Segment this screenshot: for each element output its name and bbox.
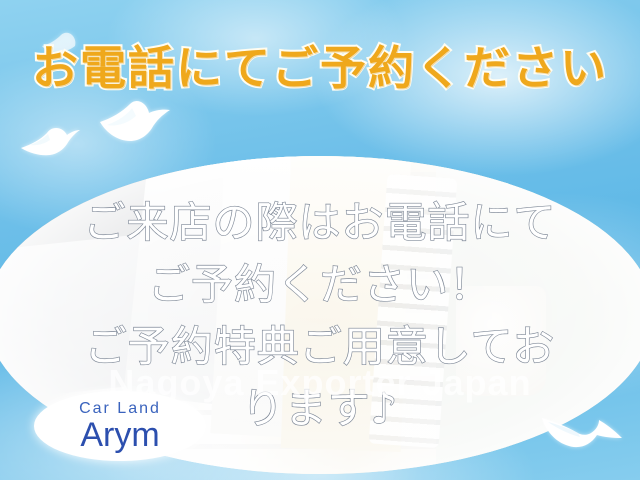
logo-brand-name: Arym: [80, 418, 159, 452]
body-line-1: ご来店の際はお電話にて: [0, 192, 640, 254]
logo-tagline: Car Land: [79, 401, 161, 417]
promo-banner: お電話にてご予約ください ご来店の際はお電話にて ご予約ください！ ご予約特典ご…: [0, 0, 640, 480]
headline-text: お電話にてご予約ください: [0, 45, 640, 91]
body-line-3: ご予約特典ご用意してお: [0, 316, 640, 378]
body-line-2: ご予約ください！: [0, 254, 640, 316]
dealer-logo: Car Land Arym: [34, 391, 206, 461]
